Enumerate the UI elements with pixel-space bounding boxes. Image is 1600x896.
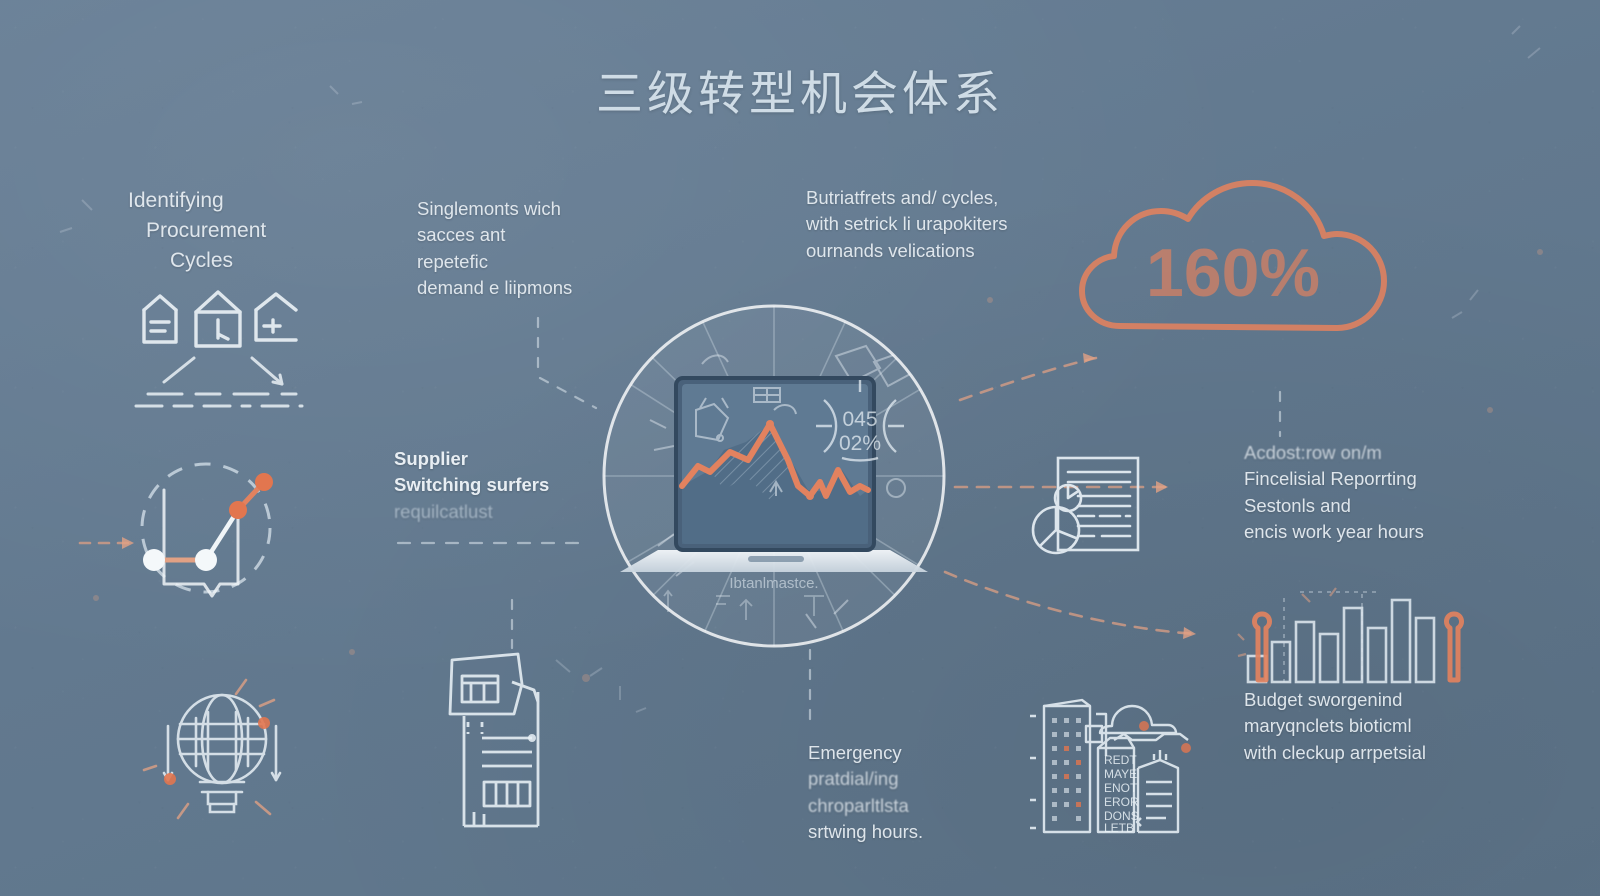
scatter-marks	[0, 0, 1600, 896]
infographic-canvas: 三级转型机会体系 Identifying Procurement Cycles	[0, 0, 1600, 896]
